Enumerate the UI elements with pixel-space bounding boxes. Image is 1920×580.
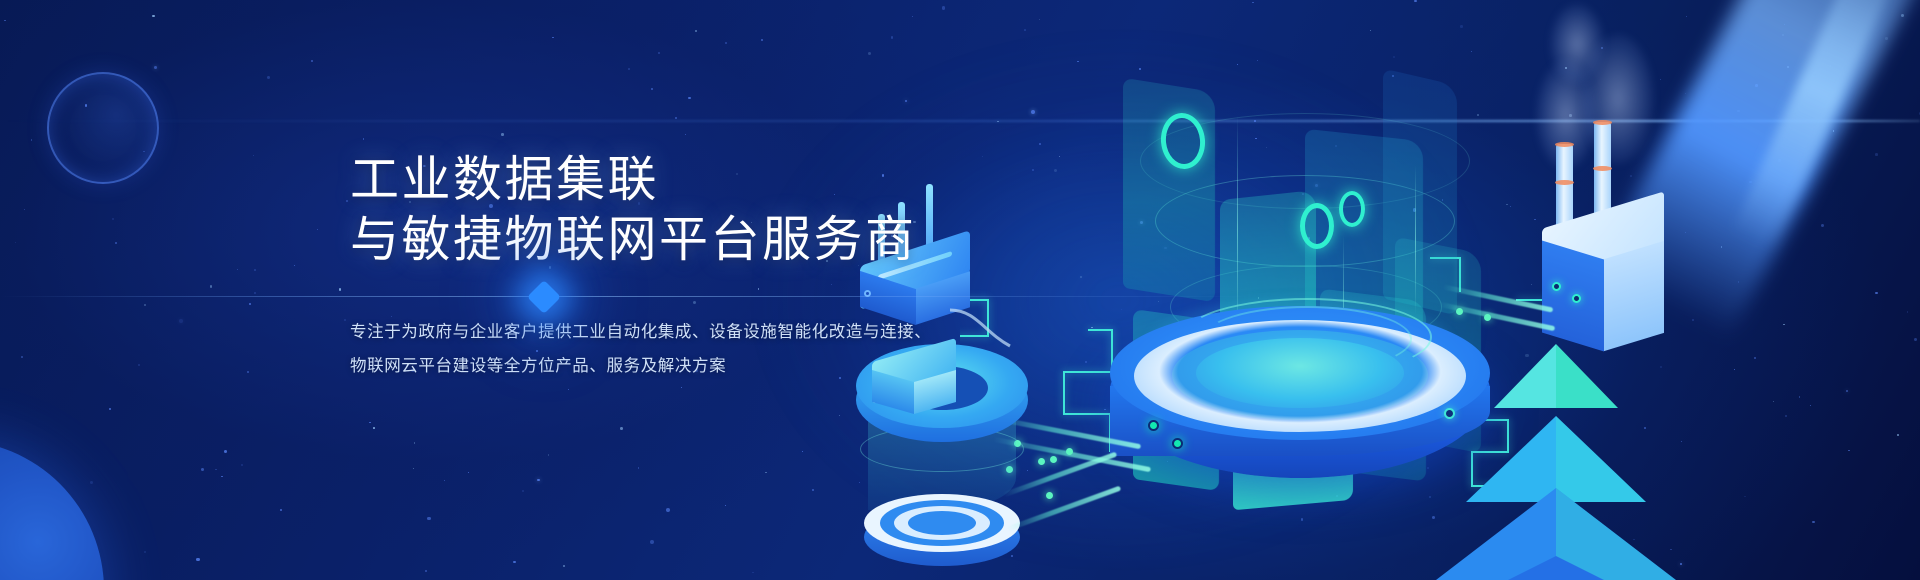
- star: [548, 454, 550, 456]
- subtitle-line-2: 物联网云平台建设等全方位产品、服务及解决方案: [350, 352, 1070, 380]
- star: [196, 558, 200, 562]
- star: [425, 570, 427, 572]
- planet-arc-icon: [0, 440, 104, 580]
- hero-text-block: 工业数据集联 与敏捷物联网平台服务商 专注于为政府与企业客户提供工业自动化集成、…: [350, 150, 1070, 380]
- star: [444, 480, 445, 481]
- star: [839, 415, 840, 416]
- star: [339, 288, 341, 290]
- star: [15, 242, 16, 243]
- star: [942, 6, 946, 10]
- star: [620, 427, 623, 430]
- star: [294, 265, 295, 266]
- star: [891, 36, 893, 38]
- star: [685, 134, 686, 135]
- star: [280, 509, 283, 512]
- star: [427, 517, 431, 521]
- star: [144, 304, 146, 306]
- star: [4, 20, 5, 21]
- star: [210, 285, 213, 288]
- star: [688, 97, 691, 100]
- star: [267, 76, 270, 79]
- star: [725, 505, 726, 506]
- star: [568, 389, 569, 390]
- star: [224, 450, 227, 453]
- star: [344, 319, 346, 321]
- hero-banner: 工业数据集联 与敏捷物联网平台服务商 专注于为政府与企业客户提供工业自动化集成、…: [0, 0, 1920, 580]
- data-pyramid: [1430, 330, 1690, 580]
- star: [152, 15, 155, 18]
- ring-indicator-icon: [1339, 191, 1365, 227]
- diamond-glow-icon: [527, 280, 561, 314]
- star: [414, 442, 415, 443]
- star: [522, 490, 524, 492]
- star: [638, 467, 640, 469]
- star: [109, 408, 111, 410]
- star: [552, 37, 554, 39]
- star: [537, 479, 540, 482]
- star: [138, 364, 140, 366]
- star: [254, 292, 256, 294]
- page-title-line-2: 与敏捷物联网平台服务商: [350, 210, 1070, 270]
- star: [681, 387, 683, 389]
- star: [651, 88, 653, 90]
- star: [658, 52, 660, 54]
- star: [179, 319, 183, 323]
- star: [363, 138, 365, 140]
- star: [912, 16, 913, 17]
- star: [90, 481, 93, 484]
- star: [765, 472, 767, 474]
- star: [237, 269, 238, 270]
- title-divider: [350, 282, 1250, 312]
- star: [21, 356, 23, 358]
- star: [628, 68, 630, 70]
- star: [254, 269, 256, 271]
- star: [249, 303, 251, 305]
- sensor-ring: [864, 494, 1020, 570]
- star: [85, 104, 87, 106]
- star: [868, 52, 871, 55]
- star: [317, 229, 318, 230]
- star: [752, 572, 753, 573]
- star: [513, 561, 515, 563]
- star: [241, 464, 243, 466]
- star: [812, 489, 814, 491]
- ring-indicator-icon: [1300, 203, 1334, 249]
- star: [761, 39, 763, 41]
- star: [112, 218, 114, 220]
- star: [144, 551, 146, 553]
- star: [24, 209, 25, 210]
- star: [373, 427, 375, 429]
- star: [501, 133, 504, 136]
- crescent-moon-icon: [47, 72, 159, 184]
- page-title-line-1: 工业数据集联: [350, 150, 1070, 210]
- star: [675, 117, 677, 119]
- star: [31, 139, 32, 140]
- star: [247, 371, 249, 373]
- star: [563, 565, 566, 568]
- star: [346, 200, 348, 202]
- star: [802, 451, 803, 452]
- star: [695, 30, 697, 32]
- star: [369, 422, 370, 423]
- star: [143, 151, 145, 153]
- subtitle-line-1: 专注于为政府与企业客户提供工业自动化集成、设备设施智能化改造与连接、: [350, 318, 1070, 346]
- star: [8, 499, 9, 500]
- star: [215, 469, 217, 471]
- star: [311, 60, 314, 63]
- star: [115, 242, 118, 245]
- star: [154, 66, 157, 69]
- star: [905, 100, 907, 102]
- star: [221, 476, 223, 478]
- star: [666, 508, 670, 512]
- star: [253, 155, 254, 156]
- star: [725, 42, 727, 44]
- star: [413, 468, 414, 469]
- star: [468, 472, 469, 473]
- star: [201, 468, 204, 471]
- star: [650, 540, 654, 544]
